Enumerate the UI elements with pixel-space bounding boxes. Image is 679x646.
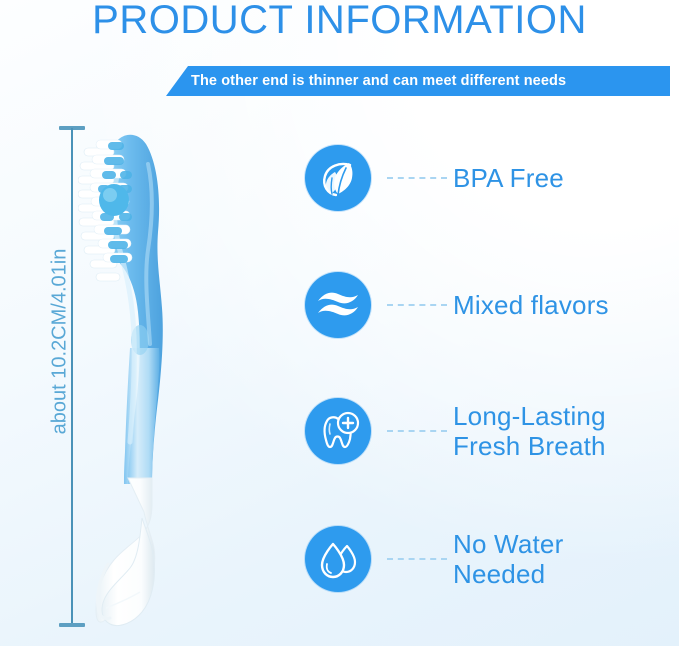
feature-row-long-lasting-fresh-breath: Long-Lasting Fresh Breath [305, 393, 606, 469]
feature-label: Mixed flavors [453, 290, 609, 320]
brush-grip-highlight [124, 348, 159, 484]
feature-label: No Water Needed [453, 529, 563, 589]
measurement-label: about 10.2CM/4.01in [49, 227, 72, 457]
feature-label: BPA Free [453, 163, 564, 193]
brush-bristles [78, 140, 132, 281]
feature-row-mixed-flavors: Mixed flavors [305, 267, 609, 343]
leaf-icon [305, 145, 371, 211]
subtitle-banner: The other end is thinner and can meet di… [166, 66, 670, 96]
feature-label: Long-Lasting Fresh Breath [453, 401, 606, 461]
floss-pick-fork [96, 478, 155, 626]
connector-dash [387, 558, 447, 560]
connector-dash [387, 430, 447, 432]
waves-icon [305, 272, 371, 338]
subtitle-banner-text: The other end is thinner and can meet di… [191, 73, 566, 89]
feature-row-bpa-free: BPA Free [305, 140, 564, 216]
connector-dash [387, 177, 447, 179]
page-title: PRODUCT INFORMATION [0, 0, 679, 43]
product-information-infographic: PRODUCT INFORMATION The other end is thi… [0, 0, 679, 646]
tooth-plus-icon [305, 398, 371, 464]
feature-row-no-water-needed: No Water Needed [305, 521, 563, 597]
water-drops-icon [305, 526, 371, 592]
connector-dash [387, 304, 447, 306]
product-image-toothbrush [78, 112, 198, 634]
